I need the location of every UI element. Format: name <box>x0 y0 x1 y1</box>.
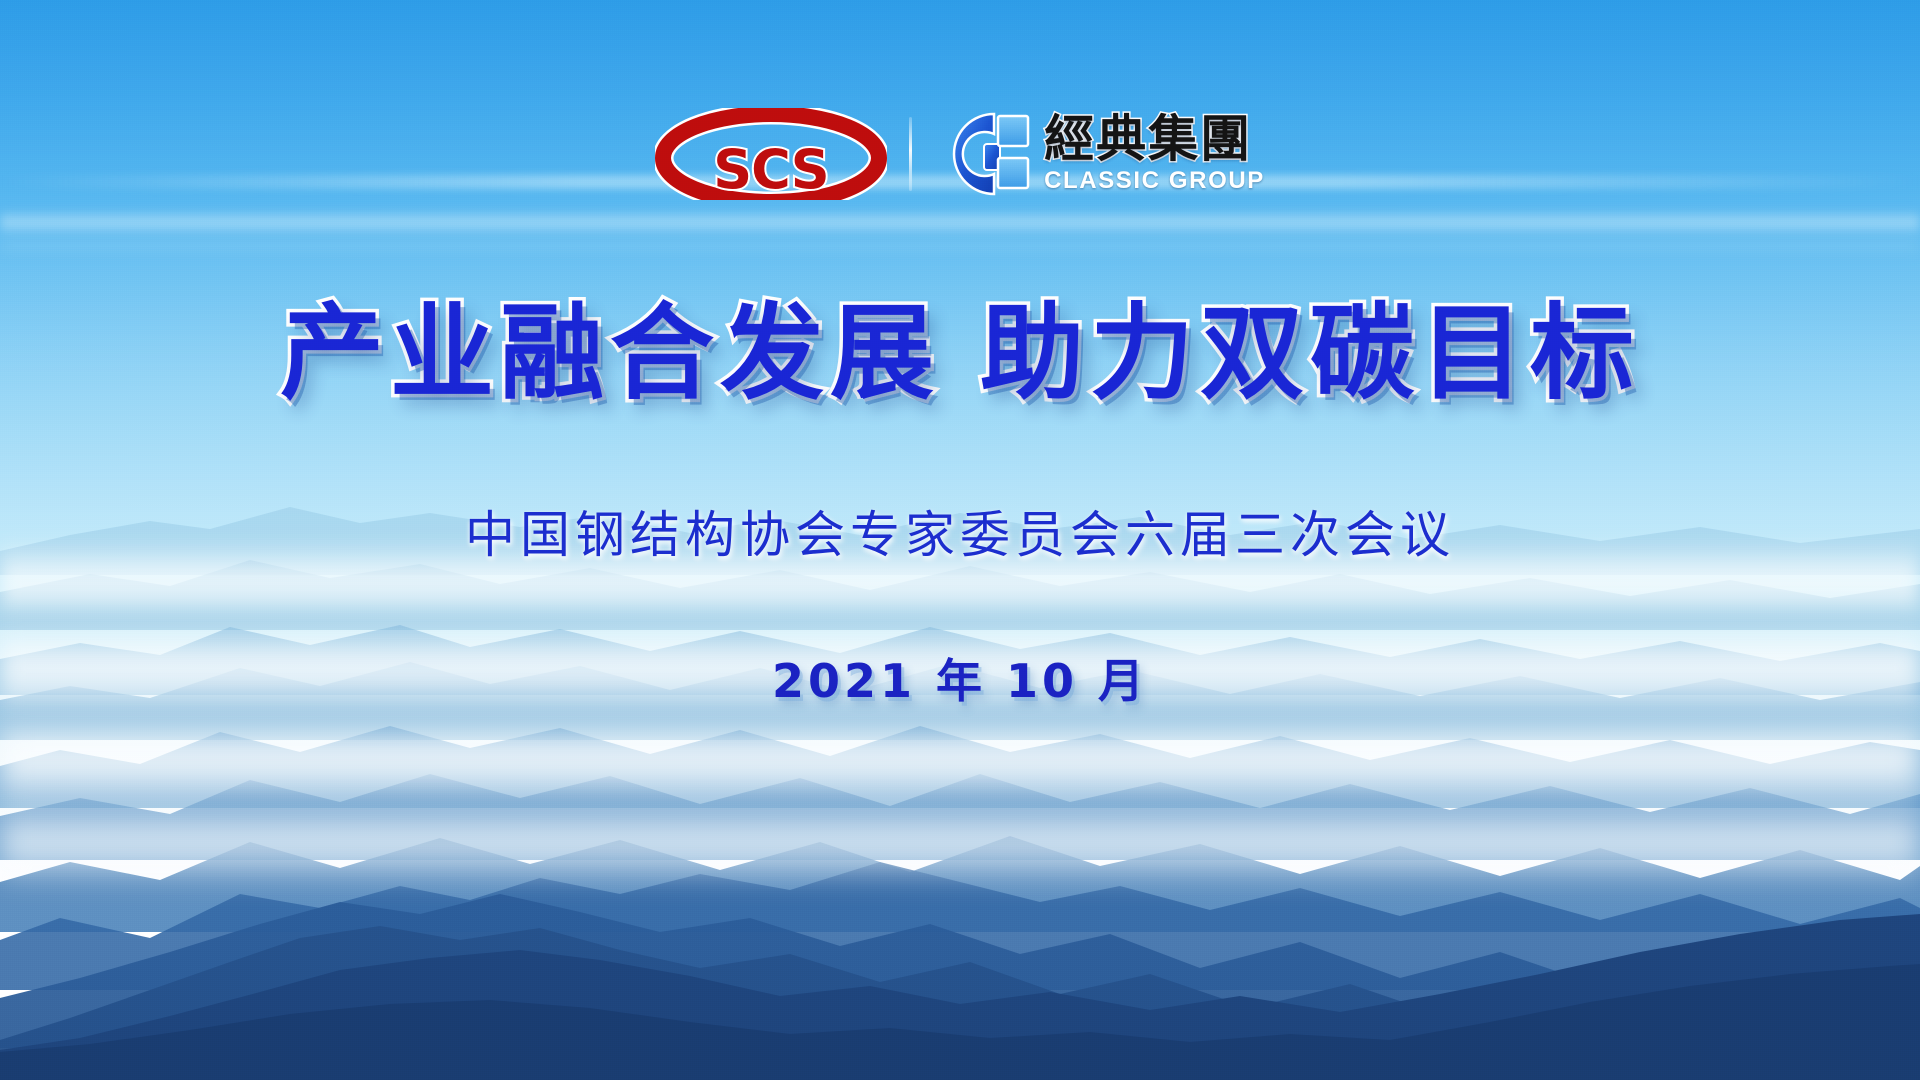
classic-group-english-name: CLASSIC GROUP <box>1044 167 1265 195</box>
mountain-ridge-layer-12-nearest <box>0 960 1920 1080</box>
logo-divider <box>909 117 912 191</box>
date-line: 2021 年 10 月 <box>0 645 1920 711</box>
main-title-part-1: 产业融合发展 <box>280 292 940 414</box>
sky-haze-band-lower <box>0 238 1920 254</box>
classic-group-mark-icon <box>938 108 1030 200</box>
scs-wordmark: SCS <box>713 138 828 200</box>
sky-haze-band <box>0 210 1920 236</box>
scs-logo: SCS <box>655 108 887 200</box>
subtitle: 中国钢结构协会专家委员会六届三次会议 <box>0 495 1920 567</box>
classic-group-chinese-name: 經典集團 <box>1044 114 1265 165</box>
classic-group-text: 經典集團 CLASSIC GROUP <box>1044 114 1265 195</box>
classic-group-logo: 經典集團 CLASSIC GROUP <box>938 108 1265 200</box>
conference-banner: SCS <box>0 0 1920 1080</box>
main-title: 产业融合发展助力双碳目标 <box>0 268 1920 419</box>
main-title-part-2: 助力双碳目标 <box>980 292 1640 414</box>
logo-block: SCS <box>0 108 1920 200</box>
